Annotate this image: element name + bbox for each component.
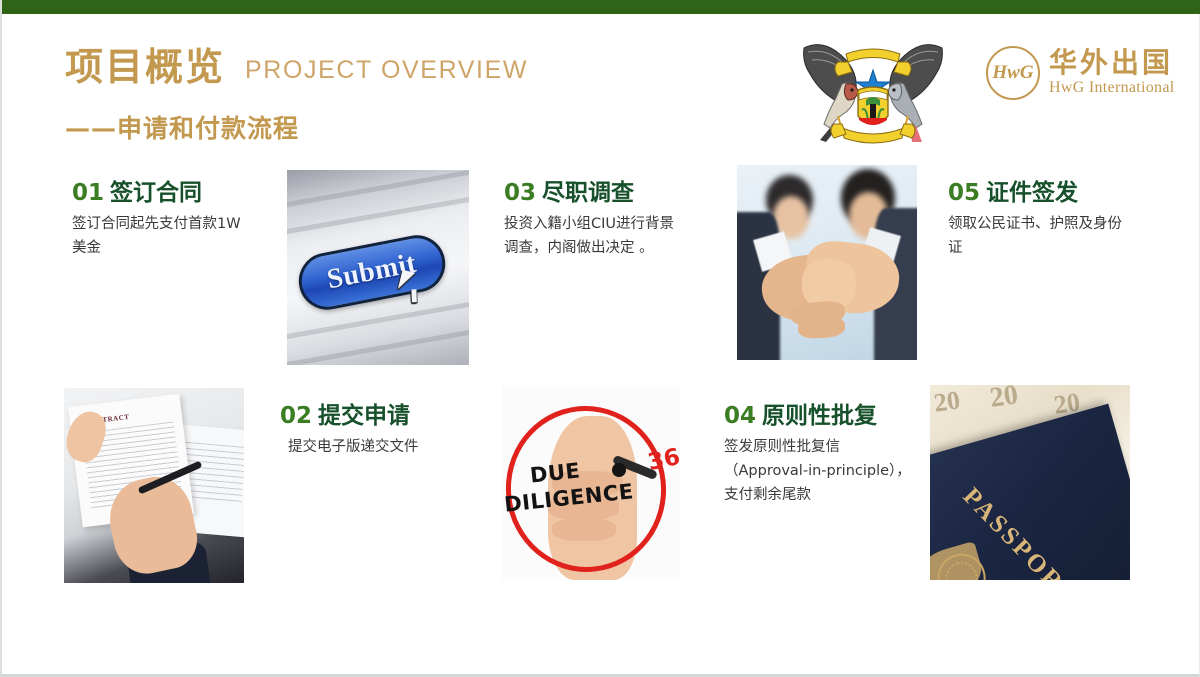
step-04-body-line: （Approval-in-principle）， [724, 460, 939, 484]
step-04-body-line: 签发原则性批复信 [724, 436, 939, 460]
step-04-number: 04 [724, 403, 756, 429]
page-title-cn: 项目概览 [65, 48, 225, 86]
step-04: 04原则性批复 签发原则性批复信 （Approval-in-principle）… [724, 403, 939, 508]
step-05-body: 领取公民证书、护照及身份 证 [948, 213, 1153, 261]
brand-name-en: HwG International [1049, 78, 1175, 98]
brand-name-cn: 华外出国 [1049, 48, 1175, 77]
step-03-heading: 03尽职调查 [504, 180, 709, 206]
brand-text: 华外出国 HwG International [1049, 48, 1175, 98]
page-title: 项目概览 PROJECT OVERVIEW [65, 48, 528, 86]
step-03-number: 03 [504, 180, 536, 206]
due-diligence-photo: DUE DILIGENCE 36 [502, 385, 680, 580]
passport-cover: PASSPORT [930, 403, 1130, 580]
submit-button-photo: Submit [287, 170, 469, 365]
step-02-heading: 02提交申请 [280, 403, 495, 429]
page-subtitle: ——申请和付款流程 [65, 116, 299, 141]
step-03-body-line: 投资入籍小组CIU进行背景 [504, 213, 709, 237]
page-title-en: PROJECT OVERVIEW [245, 58, 528, 83]
step-03-title: 尽职调查 [542, 180, 634, 206]
step-04-body-line: 支付剩余尾款 [724, 484, 939, 508]
step-05: 05证件签发 领取公民证书、护照及身份 证 [948, 180, 1153, 261]
passport-photo: 20 20 20 20 PASSPORT [930, 385, 1130, 580]
step-05-title: 证件签发 [986, 180, 1078, 206]
step-01-number: 01 [72, 180, 104, 206]
step-01-heading: 01签订合同 [72, 180, 272, 206]
step-01: 01签订合同 签订合同起先支付首款1W 美金 [72, 180, 272, 261]
step-01-body-line: 美金 [72, 237, 272, 261]
top-accent-bar [2, 0, 1200, 14]
step-02-body-line: 提交电子版递交文件 [288, 436, 495, 460]
step-02-body: 提交电子版递交文件 [280, 436, 495, 460]
slide-header: 项目概览 PROJECT OVERVIEW ——申请和付款流程 [2, 14, 1200, 162]
step-02: 02提交申请 提交电子版递交文件 [280, 403, 495, 460]
step-01-body: 签订合同起先支付首款1W 美金 [72, 213, 272, 261]
step-03-body: 投资入籍小组CIU进行背景 调查，内阁做出决定 。 [504, 213, 709, 261]
step-02-title: 提交申请 [318, 403, 410, 429]
step-03-body-line: 调查，内阁做出决定 。 [504, 237, 709, 261]
step-01-title: 签订合同 [110, 180, 202, 206]
brand-logo: HwG 华外出国 HwG International [986, 42, 1192, 104]
step-05-number: 05 [948, 180, 980, 206]
step-04-title: 原则性批复 [762, 403, 877, 429]
step-05-heading: 05证件签发 [948, 180, 1153, 206]
submit-button-in-photo: Submit [294, 230, 450, 314]
contract-signing-photo: CONTRACT [64, 388, 244, 583]
step-03: 03尽职调查 投资入籍小组CIU进行背景 调查，内阁做出决定 。 [504, 180, 709, 261]
brand-monogram-icon: HwG [986, 46, 1040, 100]
step-01-body-line: 签订合同起先支付首款1W [72, 213, 272, 237]
step-05-body-line: 领取公民证书、护照及身份 [948, 213, 1153, 237]
step-02-number: 02 [280, 403, 312, 429]
handshake-photo [737, 165, 917, 360]
slide: 项目概览 PROJECT OVERVIEW ——申请和付款流程 [0, 0, 1200, 677]
step-04-heading: 04原则性批复 [724, 403, 939, 429]
step-05-body-line: 证 [948, 237, 1153, 261]
step-04-body: 签发原则性批复信 （Approval-in-principle）， 支付剩余尾款 [724, 436, 939, 508]
coat-of-arms-icon [786, 32, 960, 158]
